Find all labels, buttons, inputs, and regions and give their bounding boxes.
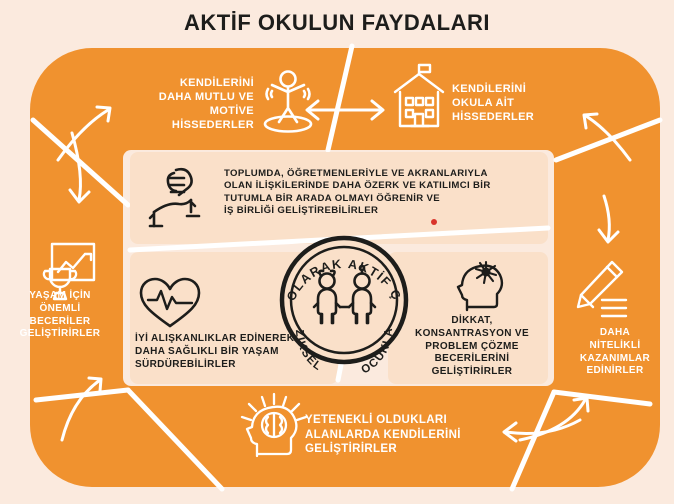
section-label-health: İYİ ALIŞKANLIKLAR EDİNEREK DAHA SAĞLIKLI…	[135, 333, 335, 371]
cursor-marker	[431, 219, 437, 225]
infographic-canvas: AKTİF OKULUN FAYDALARI	[0, 0, 674, 504]
section-label-life-skills: YAŞAM İÇİN ÖNEMLİ BECERİLER GELİŞTİRİRLE…	[14, 290, 106, 341]
section-label-focus: DİKKAT, KONSANTRASYON VE PROBLEM ÇÖZME B…	[404, 315, 540, 379]
section-label-talent: YETENEKLİ OLDUKLARI ALANLARDA KENDİLERİN…	[305, 413, 505, 457]
section-label-happy: KENDİLERİNİ DAHA MUTLU VE MOTİVE HİSSEDE…	[118, 76, 254, 132]
section-label-belonging: KENDİLERİNİ OKULA AİT HİSSEDERLER	[452, 82, 592, 124]
section-label-quality-gains: DAHA NİTELİKLİ KAZANIMLAR EDİNİRLER	[572, 327, 658, 378]
section-label-society: TOPLUMDA, ÖĞRETMENLERİYLE VE AKRANLARIYL…	[224, 168, 534, 217]
